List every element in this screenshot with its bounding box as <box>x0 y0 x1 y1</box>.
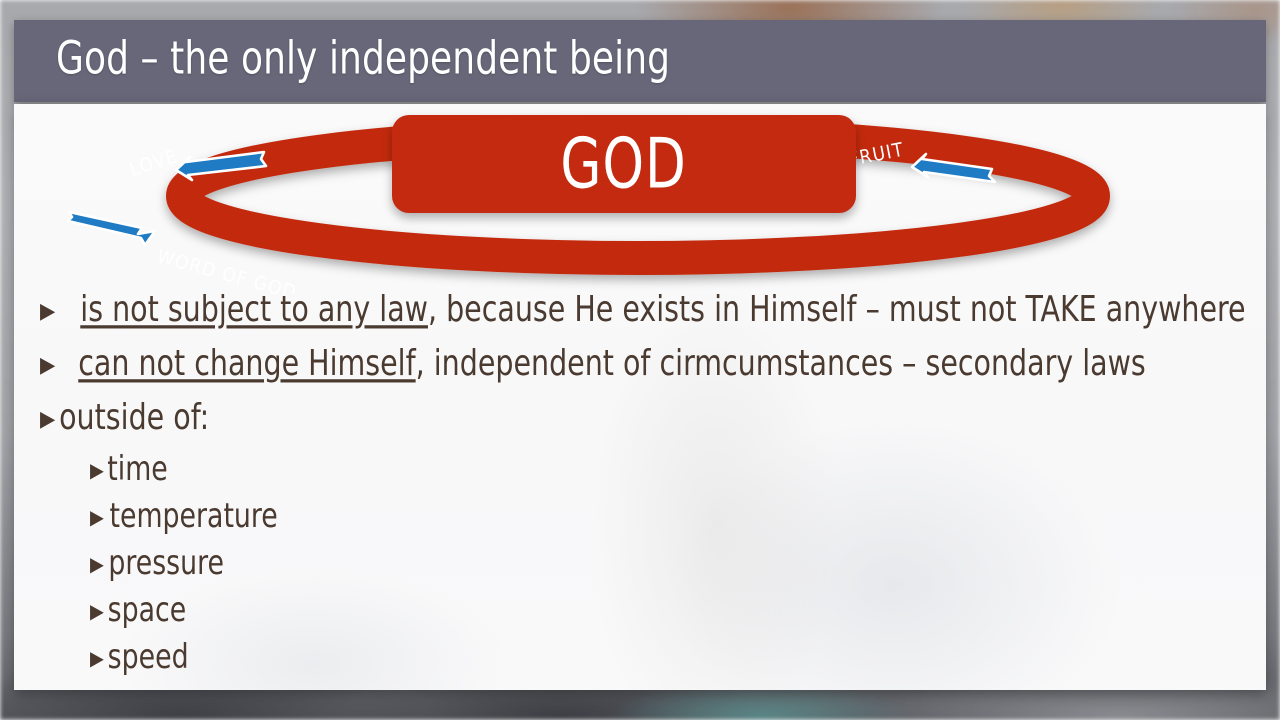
slide-title-bar: God – the only independent being <box>14 20 1266 102</box>
bullet-marker-icon: ▶ <box>90 648 104 668</box>
bullet-marker-icon: ▶ <box>40 409 55 431</box>
page-title: God – the only independent being <box>56 32 670 85</box>
bullet-marker-icon: ▶ <box>90 460 104 480</box>
sub-bullet-item: ▶ time <box>90 454 1230 485</box>
right-arrow-icon <box>68 212 155 245</box>
bullet-marker-icon: ▶ <box>90 507 104 527</box>
sub-bullet-text: temperature <box>109 500 277 533</box>
ring-label-love: LOVE <box>127 145 181 181</box>
bullet-text: outside of: <box>59 399 209 435</box>
bullet-item: ▶ outside of: <box>40 400 1230 433</box>
bullet-marker-icon: ▶ <box>40 301 55 323</box>
god-ring-diagram: LOVE WORD OF GOD FRUIT GOD <box>14 104 1266 294</box>
sub-bullet-text: pressure <box>108 547 224 580</box>
sub-bullet-text: time <box>107 453 167 486</box>
sub-bullet-item: ▶ speed <box>90 642 1230 673</box>
bullet-item: ▶ can not change Himself, independent of… <box>40 346 1230 379</box>
bullet-list: ▶ is not subject to any law, because He … <box>40 292 1230 689</box>
god-label: GOD <box>561 129 687 198</box>
presentation-slide: God – the only independent being LOVE <box>0 0 1280 720</box>
bullet-emphasis: is not subject to any law <box>81 287 429 329</box>
bullet-text: can not change Himself, independent of c… <box>78 345 1146 381</box>
bullet-emphasis: can not change Himself <box>78 341 415 383</box>
sub-bullet-item: ▶ temperature <box>90 501 1230 532</box>
bullet-text: is not subject to any law, because He ex… <box>81 291 1246 327</box>
sub-bullet-item: ▶ pressure <box>90 548 1230 579</box>
bullet-rest: , because He exists in Himself – must no… <box>428 287 1246 329</box>
bullet-marker-icon: ▶ <box>90 554 104 574</box>
bullet-item: ▶ is not subject to any law, because He … <box>40 292 1230 325</box>
bullet-marker-icon: ▶ <box>90 601 104 621</box>
slide-body-panel: LOVE WORD OF GOD FRUIT GOD <box>14 104 1266 690</box>
bullet-marker-icon: ▶ <box>40 355 55 377</box>
sub-bullet-text: speed <box>108 641 189 674</box>
sub-bullet-text: space <box>107 594 186 627</box>
bullet-rest: , independent of cirmcumstances – second… <box>416 341 1146 383</box>
god-center-box: GOD <box>392 115 856 213</box>
sub-bullet-item: ▶ space <box>90 595 1230 626</box>
